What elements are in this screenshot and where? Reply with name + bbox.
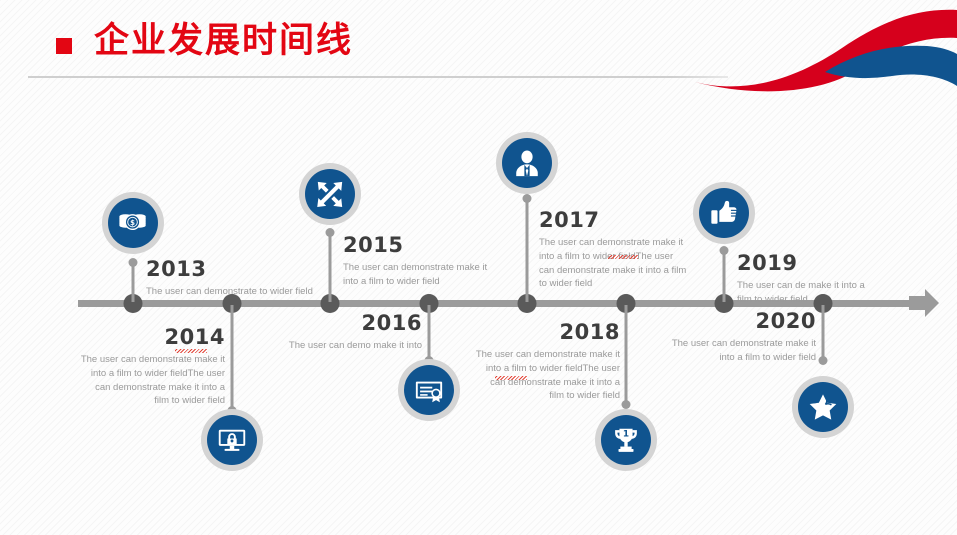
wave-swoosh-decoration <box>677 0 957 100</box>
entry-description: The user can demonstrate make it into a … <box>80 353 225 408</box>
entry-2019: 2019 The user can de make it into a film… <box>737 252 867 307</box>
entry-year: 2013 <box>146 258 361 281</box>
page-title: 企业发展时间线 <box>94 20 353 62</box>
thumbs-up-icon[interactable] <box>693 182 755 244</box>
stem-2018 <box>625 305 628 405</box>
slide-canvas: 企业发展时间线 <box>0 0 957 535</box>
star-icon[interactable] <box>792 376 854 438</box>
stem-2019 <box>723 250 726 302</box>
certificate-icon[interactable] <box>398 359 460 421</box>
monitor-lock-icon[interactable] <box>201 409 263 471</box>
entry-year: 2017 <box>539 209 687 232</box>
entry-description: The user can demo make it into <box>270 339 422 353</box>
entry-2014: 2014 The user can demonstrate make it in… <box>80 326 225 408</box>
svg-text:1: 1 <box>623 429 629 439</box>
entry-year: 2019 <box>737 252 867 275</box>
entry-2017: 2017 The user can demonstrate make it in… <box>539 209 687 291</box>
entry-description: The user can demonstrate make it into a … <box>539 236 687 291</box>
stem-cap-2018 <box>622 400 631 409</box>
header-divider <box>28 76 728 78</box>
entry-description: The user can demonstrate to wider field <box>146 285 361 299</box>
stem-cap-2019 <box>720 246 729 255</box>
stem-2020 <box>822 305 825 361</box>
entry-description: The user can demonstrate make it into a … <box>670 337 816 365</box>
spellcheck-squiggle <box>608 255 638 259</box>
stem-2013 <box>132 262 135 302</box>
spellcheck-squiggle <box>495 376 527 380</box>
entry-2016: 2016 The user can demo make it into <box>270 312 422 353</box>
stem-2014 <box>231 305 234 411</box>
spellcheck-squiggle <box>175 349 207 353</box>
businessman-icon[interactable] <box>496 132 558 194</box>
stem-cap-2020 <box>819 356 828 365</box>
entry-2020: 2020 The user can demonstrate make it in… <box>670 310 816 365</box>
square-bullet-icon <box>56 38 72 54</box>
entry-year: 2020 <box>670 310 816 333</box>
stem-cap-2017 <box>523 194 532 203</box>
entry-2015: 2015 The user can demonstrate make it in… <box>343 234 493 289</box>
entry-description: The user can demonstrate make it into a … <box>343 261 493 289</box>
money-cash-icon[interactable]: $ <box>102 192 164 254</box>
entry-2013: 2013 The user can demonstrate to wider f… <box>146 258 361 299</box>
entry-year: 2015 <box>343 234 493 257</box>
entry-year: 2016 <box>270 312 422 335</box>
stem-cap-2013 <box>129 258 138 267</box>
trophy-icon[interactable]: 1 <box>595 409 657 471</box>
stem-2016 <box>428 305 431 361</box>
entry-year: 2014 <box>80 326 225 349</box>
arrow-right-icon <box>905 288 941 318</box>
entry-2018: 2018 The user can demonstrate make it in… <box>475 321 620 403</box>
stem-2017 <box>526 198 529 302</box>
stem-cap-2015 <box>326 228 335 237</box>
entry-description: The user can de make it into a film to w… <box>737 279 867 307</box>
entry-year: 2018 <box>475 321 620 344</box>
crossed-arrows-icon[interactable] <box>299 163 361 225</box>
svg-text:$: $ <box>130 219 135 227</box>
